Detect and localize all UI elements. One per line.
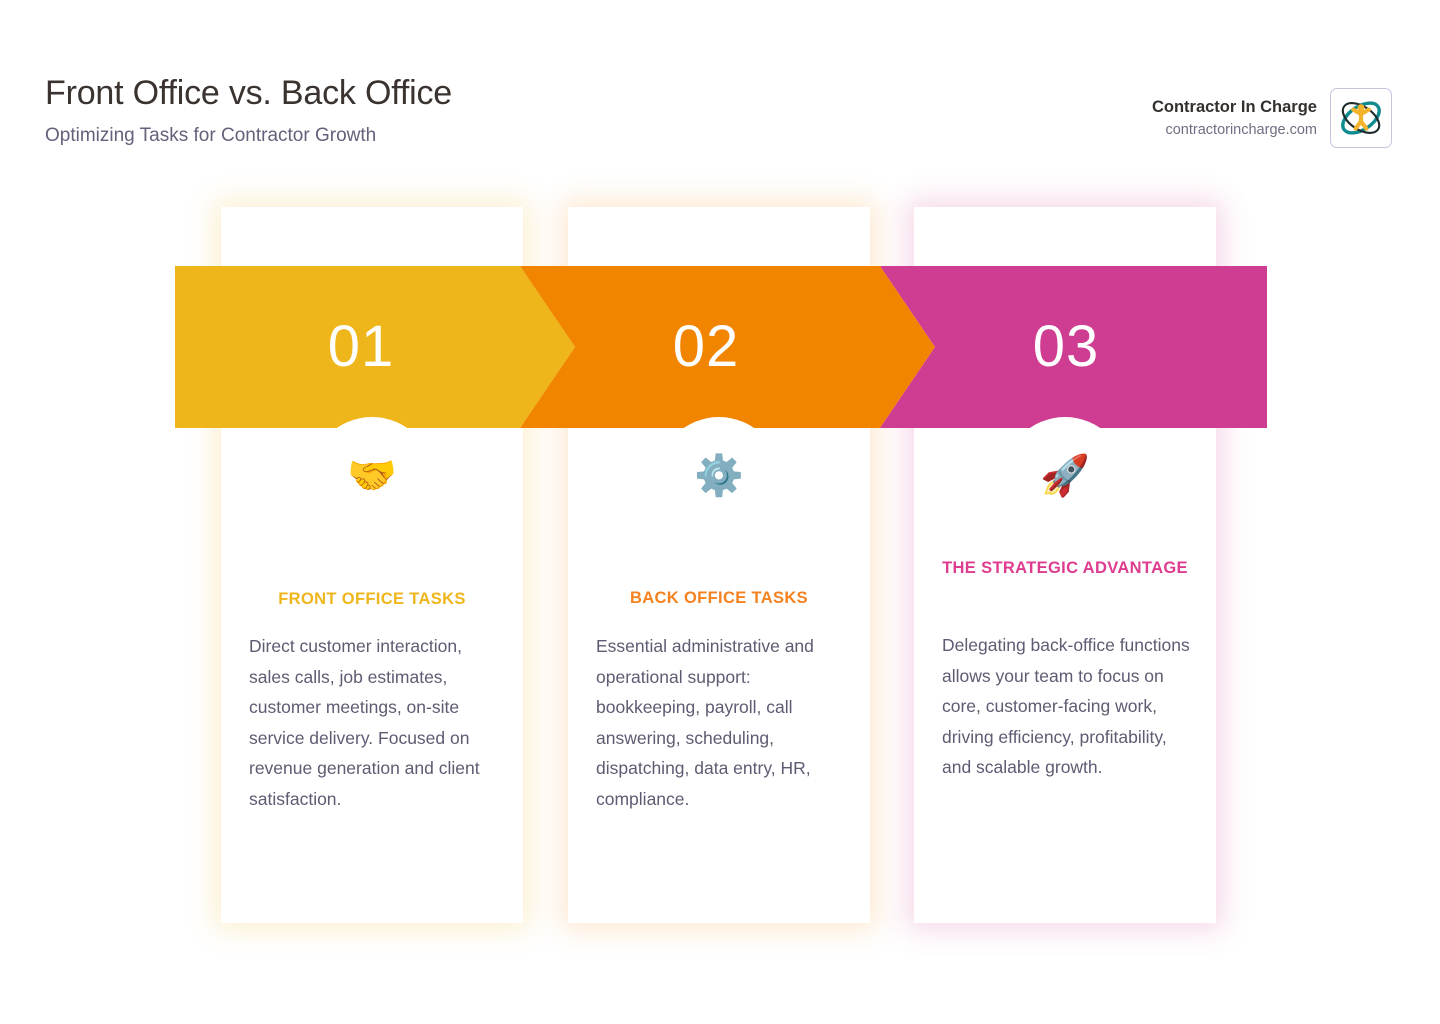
step-card-1-body: Direct customer interaction, sales calls…	[249, 631, 501, 814]
page-header: Front Office vs. Back Office Optimizing …	[0, 0, 1440, 190]
step-chevron-band: 01 02 03	[175, 266, 1267, 428]
page-subtitle: Optimizing Tasks for Contractor Growth	[45, 124, 452, 148]
brand-block: Contractor In Charge contractorincharge.…	[1152, 88, 1392, 148]
contractor-in-charge-logo-icon	[1330, 88, 1392, 148]
page-title: Front Office vs. Back Office	[45, 72, 452, 114]
rocket-icon: 🚀	[914, 452, 1216, 500]
step-card-2-body: Essential administrative and operational…	[596, 631, 848, 814]
brand-name: Contractor In Charge	[1152, 96, 1317, 118]
chevron-segment-3	[880, 266, 1267, 428]
handshake-icon: 🤝	[221, 452, 523, 500]
gear-icon: ⚙️	[568, 452, 870, 500]
step-card-2-heading: BACK OFFICE TASKS	[596, 584, 842, 613]
brand-url: contractorincharge.com	[1152, 120, 1317, 140]
brand-text: Contractor In Charge contractorincharge.…	[1152, 96, 1317, 140]
step-card-3-body: Delegating back-office functions allows …	[942, 630, 1194, 783]
step-card-3-heading: THE STRATEGIC ADVANTAGE	[942, 554, 1188, 583]
title-block: Front Office vs. Back Office Optimizing …	[45, 72, 452, 148]
chevron-segment-2	[520, 266, 935, 428]
chevron-segment-1	[175, 266, 575, 428]
step-card-1-heading: FRONT OFFICE TASKS	[249, 585, 495, 614]
